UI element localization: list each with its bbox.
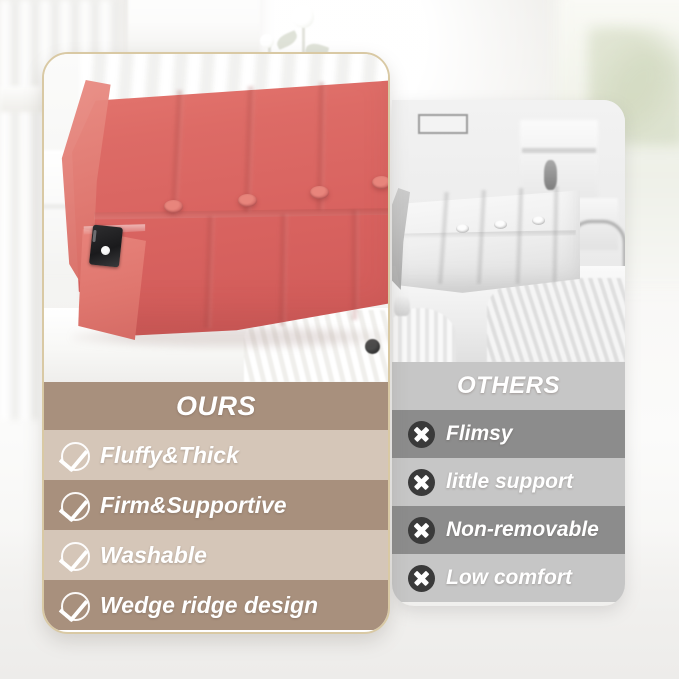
check-circle-icon [60,591,89,620]
ours-wedge-pillow [54,76,388,362]
backdrop-leaf [275,30,300,50]
ours-feature-row: Washable [44,530,388,580]
others-tuft-button [494,220,507,229]
ours-feature-label: Wedge ridge design [100,592,318,619]
ours-header: OURS [44,382,388,430]
others-throw-blanket [487,278,625,362]
ours-tuft-button [372,176,388,189]
others-feature-row: Flimsy [392,410,625,458]
backdrop-flower-bud [260,34,274,48]
ours-tuft-button [164,200,183,213]
ours-tuft-button [310,186,329,199]
x-circle-icon [408,421,435,448]
ours-feature-row: Wedge ridge design [44,580,388,630]
others-picture-frame [418,114,468,134]
others-feature-row: Non-removable [392,506,625,554]
ours-product-photo [44,54,388,382]
check-circle-icon [60,441,89,470]
ours-pillow-channel [350,210,359,320]
ours-feature-list: OURS Fluffy&Thick Firm&Supportive Washab… [44,382,388,632]
others-shelf [522,148,596,153]
check-circle-icon [60,491,89,520]
others-feature-label: Low comfort [446,566,572,590]
ours-feature-label: Washable [100,542,207,569]
ours-feature-row: Fluffy&Thick [44,430,388,480]
others-feature-label: Non-removable [446,518,599,542]
others-feature-label: little support [446,470,573,494]
others-header: OTHERS [392,362,625,410]
ours-feature-row: Firm&Supportive [44,480,388,530]
others-tuft-button [456,224,469,233]
backdrop-flower-bud [292,6,314,28]
ours-card: OURS Fluffy&Thick Firm&Supportive Washab… [42,52,390,634]
others-feature-label: Flimsy [446,422,513,446]
x-circle-icon [408,565,435,592]
ours-feature-label: Fluffy&Thick [100,442,239,469]
others-feature-row: little support [392,458,625,506]
ours-tuft-button [238,194,257,207]
others-feature-row: Low comfort [392,554,625,602]
ours-feature-label: Firm&Supportive [100,492,287,519]
others-tuft-button [532,216,545,225]
others-panel: OTHERS Flimsy little support Non-removab… [392,100,625,606]
others-trinket [394,294,410,316]
x-circle-icon [408,517,435,544]
x-circle-icon [408,469,435,496]
check-circle-icon [60,541,89,570]
others-product-photo [392,100,625,362]
others-feature-list: OTHERS Flimsy little support Non-removab… [392,362,625,606]
comparison-infographic: OTHERS Flimsy little support Non-removab… [0,0,679,679]
